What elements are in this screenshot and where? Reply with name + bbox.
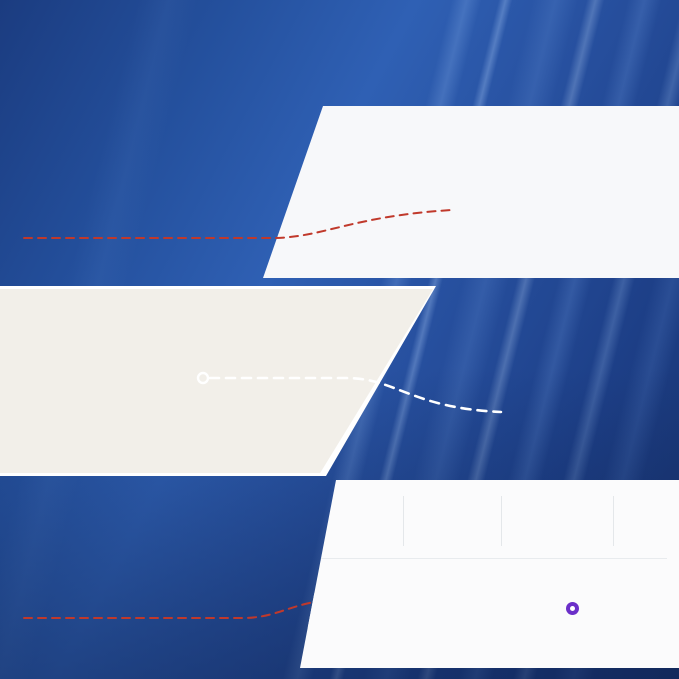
divider	[312, 558, 667, 559]
divider	[501, 496, 502, 546]
page-title	[28, 22, 639, 84]
map-pin-icon	[566, 602, 579, 615]
divider	[613, 496, 614, 546]
analytics-dashboard-panel	[300, 480, 679, 668]
kpi-group	[457, 120, 675, 268]
area-chart-card	[470, 564, 674, 668]
divider	[403, 496, 404, 546]
dashboard-top-row	[300, 486, 679, 554]
